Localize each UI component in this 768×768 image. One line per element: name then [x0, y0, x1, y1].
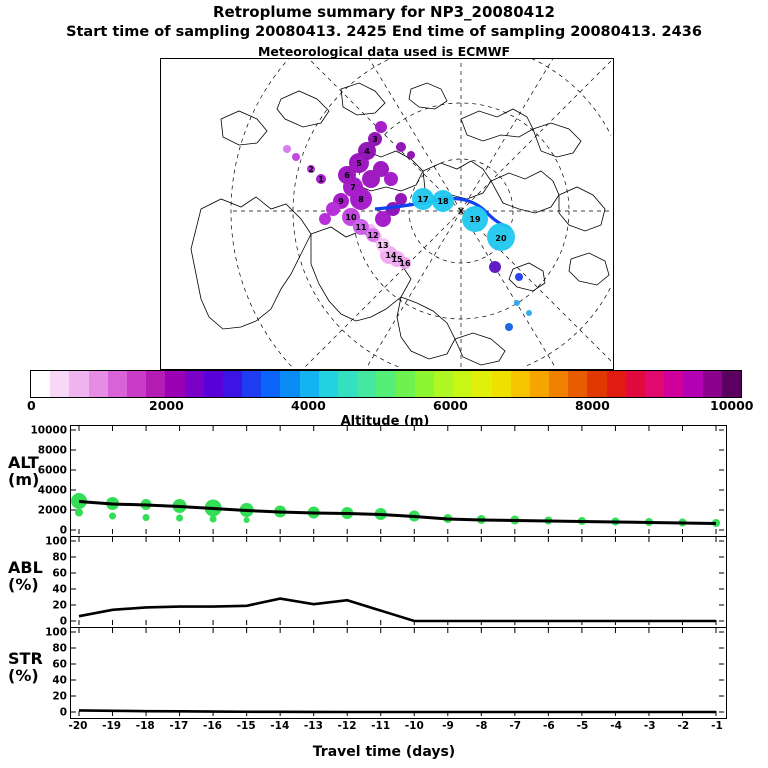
svg-text:20: 20 [495, 234, 507, 243]
colorbar-swatch [453, 371, 472, 397]
y-tick-label: 10000 [30, 425, 67, 437]
y-tick-label: 0 [60, 707, 67, 719]
colorbar-swatch [165, 371, 184, 397]
colorbar-tick-3: 6000 [433, 398, 468, 413]
x-tick-label: -12 [336, 720, 358, 732]
colorbar-swatch [185, 371, 204, 397]
y-tick-label: 20 [52, 691, 67, 703]
x-tick-label: -10 [403, 720, 425, 732]
x-tick-label: -7 [504, 720, 526, 732]
colorbar-tick-2: 4000 [291, 398, 326, 413]
svg-text:10: 10 [345, 213, 357, 222]
x-tick-label: -14 [269, 720, 291, 732]
colorbar-swatch [127, 371, 146, 397]
x-tick-label: -13 [302, 720, 324, 732]
svg-text:6: 6 [344, 171, 350, 180]
x-tick-label: -9 [437, 720, 459, 732]
colorbar-swatch [223, 371, 242, 397]
colorbar-swatch [376, 371, 395, 397]
colorbar-swatch [703, 371, 722, 397]
x-tick-label: -16 [202, 720, 224, 732]
colorbar-tick-5: 10000 [710, 398, 754, 413]
alt-axis-label: ALT(m) [8, 455, 39, 489]
page-title: Retroplume summary for NP3_20080412 [0, 3, 768, 21]
x-tick-label: -8 [471, 720, 493, 732]
colorbar-swatch [415, 371, 434, 397]
latitude-circles [231, 59, 611, 367]
svg-text:3: 3 [372, 135, 378, 144]
x-tick-label: -3 [639, 720, 661, 732]
colorbar-swatch [587, 371, 606, 397]
meridians [229, 59, 611, 367]
x-tick-label: -1 [706, 720, 728, 732]
abl-panel: 020406080100 [70, 536, 727, 628]
svg-text:5: 5 [356, 159, 362, 168]
alt-plot: 0200040006000800010000 [71, 426, 724, 534]
colorbar-swatch [434, 371, 453, 397]
y-tick-label: 100 [45, 627, 67, 639]
y-tick-label: 40 [52, 675, 67, 687]
x-tick-label: -5 [571, 720, 593, 732]
svg-text:9: 9 [338, 197, 344, 206]
map-canvas: 12 34 56 78 910 1112 1314 1516 1718 1920 [161, 59, 611, 367]
y-tick-label: 40 [52, 584, 67, 596]
str-plot: 020406080100 [71, 628, 724, 716]
x-tick-labels: -20-19-18-17-16-15-14-13-12-11-10-9-8-7-… [0, 720, 768, 736]
colorbar-swatch [645, 371, 664, 397]
str-axis-label: STR(%) [8, 651, 43, 685]
svg-text:17: 17 [417, 195, 428, 204]
svg-text:8: 8 [358, 195, 364, 204]
colorbar-swatch [300, 371, 319, 397]
alt-panel: 0200040006000800010000 [70, 425, 727, 537]
colorbar-swatch [472, 371, 491, 397]
y-tick-label: 80 [52, 643, 67, 655]
x-tick-label: -17 [168, 720, 190, 732]
svg-text:18: 18 [437, 197, 449, 206]
y-tick-label: 80 [52, 552, 67, 564]
colorbar-swatch [722, 371, 741, 397]
colorbar-tick-0: 0 [27, 398, 36, 413]
colorbar-swatch [664, 371, 683, 397]
retroplume-map: 12 34 56 78 910 1112 1314 1516 1718 1920 [160, 58, 614, 370]
y-tick-label: 8000 [38, 445, 67, 457]
svg-text:12: 12 [367, 231, 378, 240]
svg-text:11: 11 [355, 223, 367, 232]
met-data-note: Meteorological data used is ECMWF [0, 44, 768, 59]
abl-plot: 020406080100 [71, 537, 724, 625]
x-tick-label: -6 [538, 720, 560, 732]
colorbar-swatch [319, 371, 338, 397]
y-tick-label: 100 [45, 536, 67, 548]
colorbar-swatch [146, 371, 165, 397]
colorbar-swatch [511, 371, 530, 397]
x-tick-label: -11 [370, 720, 392, 732]
svg-text:16: 16 [399, 259, 411, 268]
x-tick-label: -4 [605, 720, 627, 732]
colorbar-swatch [530, 371, 549, 397]
svg-text:4: 4 [364, 147, 370, 156]
colorbar-swatch [89, 371, 108, 397]
y-tick-label: 4000 [38, 485, 67, 497]
svg-text:13: 13 [377, 241, 388, 250]
colorbar-swatch [338, 371, 357, 397]
y-tick-label: 60 [52, 568, 67, 580]
colorbar-swatch [607, 371, 626, 397]
svg-text:19: 19 [469, 215, 481, 224]
colorbar-swatch [50, 371, 69, 397]
svg-text:1: 1 [318, 175, 324, 184]
colorbar-tick-4: 8000 [575, 398, 610, 413]
y-tick-label: 20 [52, 600, 67, 612]
colorbar-swatch [204, 371, 223, 397]
colorbar-swatch [242, 371, 261, 397]
x-tick-label: -15 [235, 720, 257, 732]
x-tick-label: -18 [134, 720, 156, 732]
y-tick-label: 6000 [38, 465, 67, 477]
str-panel: 020406080100 [70, 627, 727, 719]
y-tick-label: 60 [52, 659, 67, 671]
colorbar-swatch [31, 371, 50, 397]
x-tick-label: -19 [101, 720, 123, 732]
colorbar-swatch [69, 371, 88, 397]
sampling-times: Start time of sampling 20080413. 2425 En… [0, 24, 768, 40]
x-tick-label: -2 [672, 720, 694, 732]
colorbar-swatch [549, 371, 568, 397]
altitude-colorbar [30, 370, 742, 398]
colorbar-tick-1: 2000 [149, 398, 184, 413]
colorbar-swatch [568, 371, 587, 397]
svg-text:7: 7 [350, 183, 356, 192]
y-tick-label: 2000 [38, 505, 67, 517]
colorbar-swatch [626, 371, 645, 397]
colorbar-swatch [492, 371, 511, 397]
colorbar-swatch [683, 371, 702, 397]
colorbar-ticks: 0 2000 4000 6000 8000 10000 [30, 398, 740, 414]
colorbar-swatch [357, 371, 376, 397]
colorbar-group: 0 2000 4000 6000 8000 10000 Altitude (m) [30, 370, 740, 396]
colorbar-swatch [261, 371, 280, 397]
x-axis-label: Travel time (days) [0, 744, 768, 760]
abl-axis-label: ABL(%) [8, 560, 43, 594]
colorbar-swatch [280, 371, 299, 397]
colorbar-swatch [108, 371, 127, 397]
colorbar-swatch [396, 371, 415, 397]
x-tick-label: -20 [67, 720, 89, 732]
svg-text:2: 2 [308, 165, 314, 174]
